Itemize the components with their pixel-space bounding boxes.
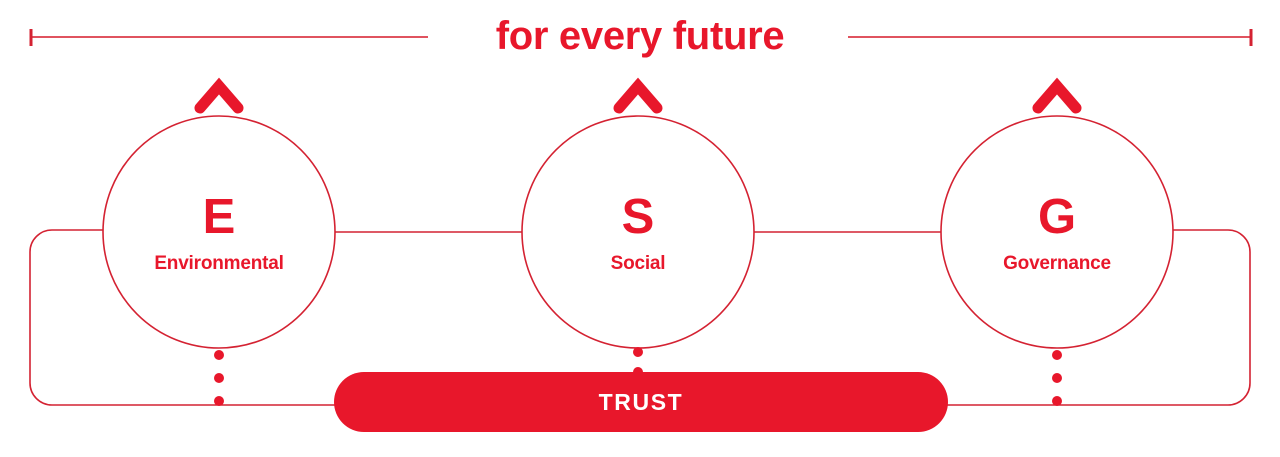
pillar-governance[interactable]: G Governance [927, 192, 1187, 275]
chevron-up-icon-environmental [200, 86, 238, 108]
dot-social-1 [633, 347, 643, 357]
dot-environmental-1 [214, 350, 224, 360]
dot-governance-1 [1052, 350, 1062, 360]
pillar-letter-environmental: E [89, 192, 349, 242]
pillar-label-environmental: Environmental [89, 253, 349, 275]
pillar-letter-governance: G [927, 192, 1187, 242]
dot-environmental-3 [214, 396, 224, 406]
pillar-environmental[interactable]: E Environmental [89, 192, 349, 275]
chevron-up-icon-governance [1038, 86, 1076, 108]
dot-governance-3 [1052, 396, 1062, 406]
trust-label: TRUST [599, 390, 684, 414]
pillar-label-governance: Governance [927, 253, 1187, 275]
dot-governance-2 [1052, 373, 1062, 383]
esg-trust-diagram: for every future E Environmental S Socia… [0, 0, 1280, 457]
chevron-up-icon-social [619, 86, 657, 108]
dot-environmental-2 [214, 373, 224, 383]
pillar-label-social: Social [508, 253, 768, 275]
pillar-chevrons [200, 86, 1076, 108]
pillar-letter-social: S [508, 192, 768, 242]
trust-foundation-pill[interactable]: TRUST [334, 372, 948, 432]
pillar-social[interactable]: S Social [508, 192, 768, 275]
page-title: for every future [0, 8, 1280, 64]
